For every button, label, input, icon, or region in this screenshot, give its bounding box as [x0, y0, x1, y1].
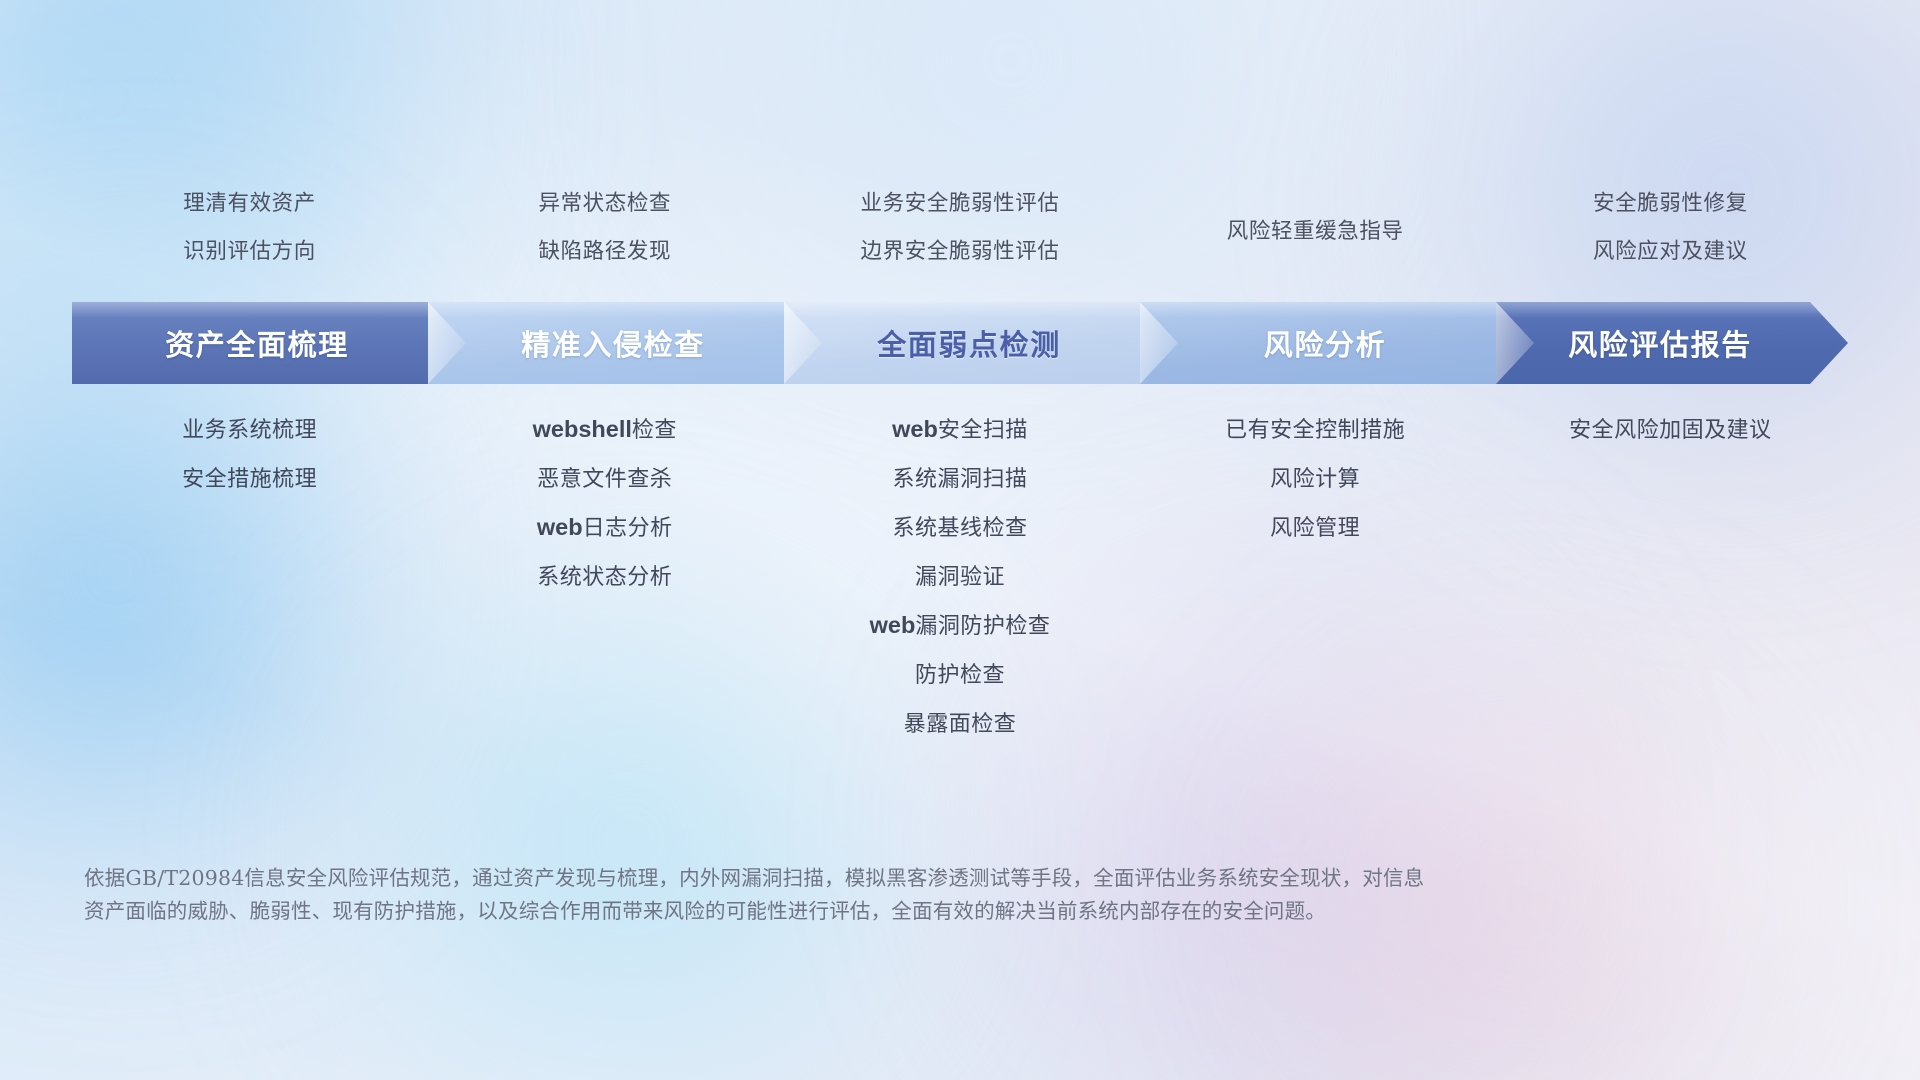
- footnote-line: 资产面临的威胁、脆弱性、现有防护措施，以及综合作用而带来风险的可能性进行评估，全…: [84, 895, 1564, 928]
- slide-canvas: 理清有效资产 识别评估方向 异常状态检查 缺陷路径发现 业务安全脆弱性评估 边界…: [0, 0, 1920, 1080]
- bottom-line: 风险计算: [1270, 461, 1360, 493]
- bottom-line: 防护检查: [915, 657, 1005, 689]
- bottom-line: 暴露面检查: [904, 706, 1017, 738]
- stage-chevron-asset-inventory[interactable]: 资产全面梳理: [72, 302, 466, 384]
- bottom-line: 系统基线检查: [892, 510, 1027, 542]
- bottom-line: 风险管理: [1270, 510, 1360, 542]
- bottom-line: 安全措施梳理: [182, 461, 317, 493]
- bottom-cell-stack: webshellwebshell检查检查 恶意文件查杀 web日志分析 系统状态…: [427, 412, 782, 591]
- top-cell-stack: 安全脆弱性修复 风险应对及建议: [1493, 186, 1848, 265]
- top-cell-intrusion-check: 异常状态检查 缺陷路径发现: [427, 186, 782, 265]
- top-line: 风险应对及建议: [1593, 234, 1748, 265]
- bottom-line: webshellwebshell检查检查: [533, 412, 677, 444]
- stage-chevron-risk-report[interactable]: 风险评估报告: [1496, 302, 1848, 384]
- top-cell-asset-inventory: 理清有效资产 识别评估方向: [72, 186, 427, 265]
- footnote-line: 依据GB/T20984信息安全风险评估规范，通过资产发现与梳理，内外网漏洞扫描，…: [84, 862, 1564, 895]
- bottom-line: web日志分析: [537, 510, 673, 542]
- chevron-highlight: [1140, 302, 1534, 318]
- top-line: 风险轻重缓急指导: [1227, 214, 1404, 245]
- diagram-content: 理清有效资产 识别评估方向 异常状态检查 缺陷路径发现 业务安全脆弱性评估 边界…: [0, 0, 1920, 1080]
- chevron-highlight: [784, 302, 1178, 318]
- bottom-line: web安全扫描: [892, 412, 1028, 444]
- bottom-cell-stack: 安全风险加固及建议: [1493, 412, 1848, 444]
- top-cell-stack: 理清有效资产 识别评估方向: [72, 186, 427, 265]
- bottom-cell-weakness-detection: web安全扫描 系统漏洞扫描 系统基线检查 漏洞验证 web漏洞防护检查 防护检…: [782, 412, 1137, 738]
- bottom-cell-risk-report: 安全风险加固及建议: [1493, 412, 1848, 738]
- top-line: 异常状态检查: [538, 186, 671, 217]
- bottom-line: 恶意文件查杀: [537, 461, 672, 493]
- bottom-line: 业务系统梳理: [182, 412, 317, 444]
- top-line: 识别评估方向: [183, 234, 316, 265]
- top-cell-stack: 业务安全脆弱性评估 边界安全脆弱性评估: [782, 186, 1137, 265]
- footnote: 依据GB/T20984信息安全风险评估规范，通过资产发现与梳理，内外网漏洞扫描，…: [84, 862, 1564, 928]
- bottom-cell-stack: 已有安全控制措施 风险计算 风险管理: [1138, 412, 1493, 542]
- top-cell-stack: 异常状态检查 缺陷路径发现: [427, 186, 782, 265]
- bottom-cell-stack: 业务系统梳理 安全措施梳理: [72, 412, 427, 493]
- top-cell-weakness-detection: 业务安全脆弱性评估 边界安全脆弱性评估: [782, 186, 1137, 265]
- stage-chevron-label: 风险评估报告: [1568, 322, 1752, 364]
- top-line: 边界安全脆弱性评估: [861, 234, 1060, 265]
- top-caption-row: 理清有效资产 识别评估方向 异常状态检查 缺陷路径发现 业务安全脆弱性评估 边界…: [72, 186, 1848, 265]
- top-cell-risk-analysis: 风险轻重缓急指导: [1138, 186, 1493, 265]
- top-line: 业务安全脆弱性评估: [861, 186, 1060, 217]
- bottom-line: 系统状态分析: [537, 559, 672, 591]
- top-cell-stack: 风险轻重缓急指导: [1138, 186, 1493, 245]
- bottom-cell-stack: web安全扫描 系统漏洞扫描 系统基线检查 漏洞验证 web漏洞防护检查 防护检…: [782, 412, 1137, 738]
- bottom-caption-row: 业务系统梳理 安全措施梳理 webshellwebshell检查检查 恶意文件查…: [72, 412, 1848, 738]
- stage-chevron-risk-analysis[interactable]: 风险分析: [1140, 302, 1534, 384]
- bottom-cell-asset-inventory: 业务系统梳理 安全措施梳理: [72, 412, 427, 738]
- chevron-highlight: [1496, 302, 1848, 318]
- stage-chevron-label: 全面弱点检测: [877, 322, 1061, 364]
- stage-chevron-label: 精准入侵检查: [521, 322, 705, 364]
- top-line: 安全脆弱性修复: [1593, 186, 1748, 217]
- stage-chevron-label: 风险分析: [1264, 322, 1386, 364]
- bottom-line: 系统漏洞扫描: [892, 461, 1027, 493]
- chevron-highlight: [428, 302, 822, 318]
- bottom-cell-intrusion-check: webshellwebshell检查检查 恶意文件查杀 web日志分析 系统状态…: [427, 412, 782, 738]
- stage-chevron-intrusion-check[interactable]: 精准入侵检查: [428, 302, 822, 384]
- stage-chevron-label: 资产全面梳理: [165, 322, 349, 364]
- stage-chevron-weakness-detection[interactable]: 全面弱点检测: [784, 302, 1178, 384]
- bottom-line: 已有安全控制措施: [1225, 412, 1405, 444]
- top-line: 缺陷路径发现: [538, 234, 671, 265]
- top-line: 理清有效资产: [183, 186, 316, 217]
- chevron-highlight: [72, 302, 466, 318]
- bottom-line: web漏洞防护检查: [870, 608, 1051, 640]
- bottom-line: 安全风险加固及建议: [1569, 412, 1772, 444]
- bottom-cell-risk-analysis: 已有安全控制措施 风险计算 风险管理: [1138, 412, 1493, 738]
- bottom-line: 漏洞验证: [915, 559, 1005, 591]
- stage-chevron-band: 资产全面梳理 精准入侵检查 全面弱点检测 风险分析 风险评估报告: [72, 302, 1848, 384]
- top-cell-risk-report: 安全脆弱性修复 风险应对及建议: [1493, 186, 1848, 265]
